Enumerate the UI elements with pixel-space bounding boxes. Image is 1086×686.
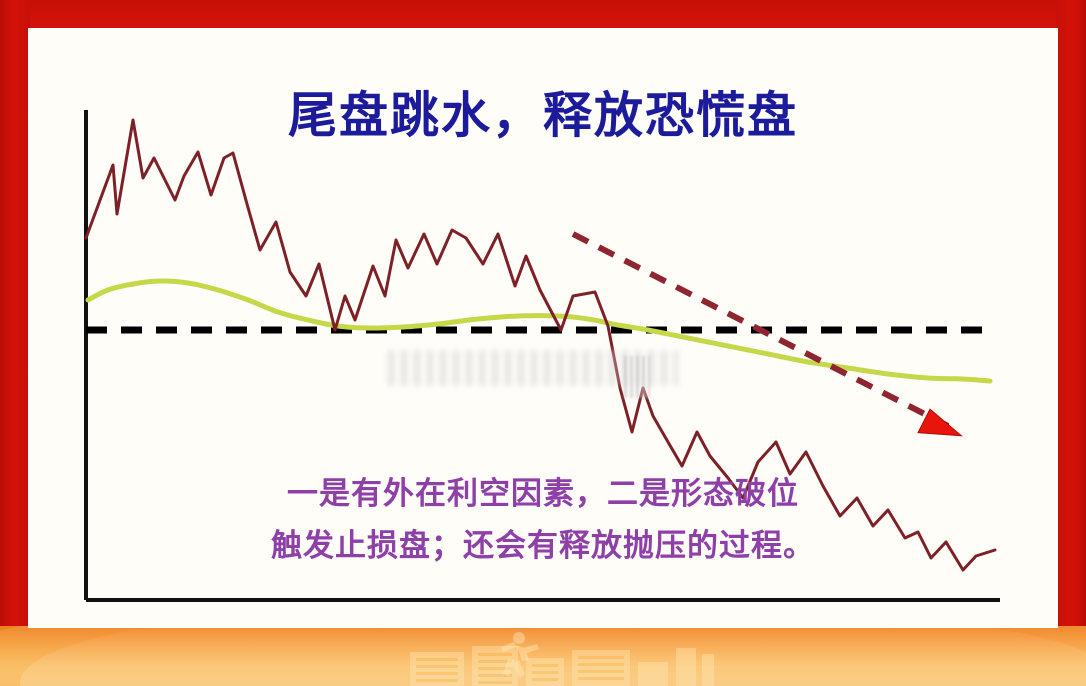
caption-line-2: 触发止损盘；还会有释放抛压的过程。 xyxy=(28,520,1058,572)
bottom-decorative-band xyxy=(0,626,1086,686)
white-content-card: 尾盘跳水，释放恐慌盘 一是有外在利空因素，二是形态破位 触发止损盘；还会有释放抛… xyxy=(28,28,1058,628)
city-skyline-icon xyxy=(400,644,800,686)
poster-root: 尾盘跳水，释放恐慌盘 一是有外在利空因素，二是形态破位 触发止损盘；还会有释放抛… xyxy=(0,0,1086,686)
caption-line-1: 一是有外在利空因素，二是形态破位 xyxy=(28,468,1058,520)
blurred-watermark-tag xyxy=(624,356,650,398)
frame-right-border xyxy=(1056,0,1086,686)
frame-left-border xyxy=(0,0,30,686)
caption-block: 一是有外在利空因素，二是形态破位 触发止损盘；还会有释放抛压的过程。 xyxy=(28,468,1058,572)
page-title: 尾盘跳水，释放恐慌盘 xyxy=(28,76,1058,147)
running-figure-icon xyxy=(475,630,555,682)
down-trend-arrow-icon xyxy=(918,409,961,436)
frame-top-border xyxy=(0,0,1086,28)
